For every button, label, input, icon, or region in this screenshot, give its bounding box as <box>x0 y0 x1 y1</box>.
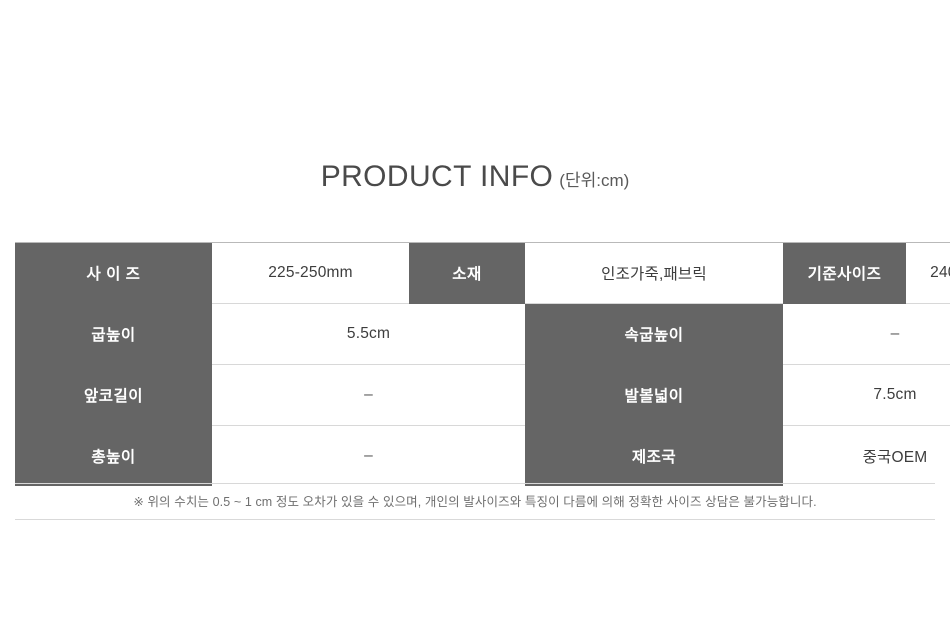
spec-label-foot-width: 발볼넓이 <box>525 365 783 426</box>
table-row: 사 이 즈 225-250mm 소재 인조가죽,패브릭 기준사이즈 240mm <box>15 243 950 304</box>
product-info-page: PRODUCT INFO(단위:cm) 사 이 즈 225-250mm 소재 인… <box>0 0 950 644</box>
spec-label-heel-height: 굽높이 <box>15 304 212 365</box>
table-bottom-divider <box>15 483 935 484</box>
table-row: 앞코길이 – 발볼넓이 7.5cm <box>15 365 950 426</box>
product-spec-table: 사 이 즈 225-250mm 소재 인조가죽,패브릭 기준사이즈 240mm … <box>15 242 950 486</box>
table-row: 총높이 – 제조국 중국OEM <box>15 426 950 487</box>
spec-table-body: 사 이 즈 225-250mm 소재 인조가죽,패브릭 기준사이즈 240mm … <box>15 243 950 487</box>
page-title-main: PRODUCT INFO <box>321 160 554 193</box>
spec-label-total-height: 총높이 <box>15 426 212 487</box>
spec-value-toe-length: – <box>212 365 525 426</box>
spec-value-material: 인조가죽,패브릭 <box>525 243 783 304</box>
spec-value-inner-heel-height: – <box>783 304 950 365</box>
spec-value-manufacturing-country: 중국OEM <box>783 426 950 487</box>
spec-value-size: 225-250mm <box>212 243 409 304</box>
page-title-unit: (단위:cm) <box>559 171 629 190</box>
spec-label-inner-heel-height: 속굽높이 <box>525 304 783 365</box>
spec-label-size: 사 이 즈 <box>15 243 212 304</box>
table-row: 굽높이 5.5cm 속굽높이 – <box>15 304 950 365</box>
spec-value-standard-size: 240mm <box>906 243 950 304</box>
spec-label-material: 소재 <box>409 243 525 304</box>
spec-label-toe-length: 앞코길이 <box>15 365 212 426</box>
size-disclaimer-note: ※ 위의 수치는 0.5 ~ 1 cm 정도 오차가 있을 수 있으며, 개인의… <box>15 493 935 511</box>
spec-value-heel-height: 5.5cm <box>212 304 525 365</box>
spec-label-standard-size: 기준사이즈 <box>783 243 906 304</box>
spec-label-manufacturing-country: 제조국 <box>525 426 783 487</box>
note-bottom-divider <box>15 519 935 520</box>
spec-value-total-height: – <box>212 426 525 487</box>
spec-value-foot-width: 7.5cm <box>783 365 950 426</box>
page-title: PRODUCT INFO(단위:cm) <box>0 160 950 194</box>
